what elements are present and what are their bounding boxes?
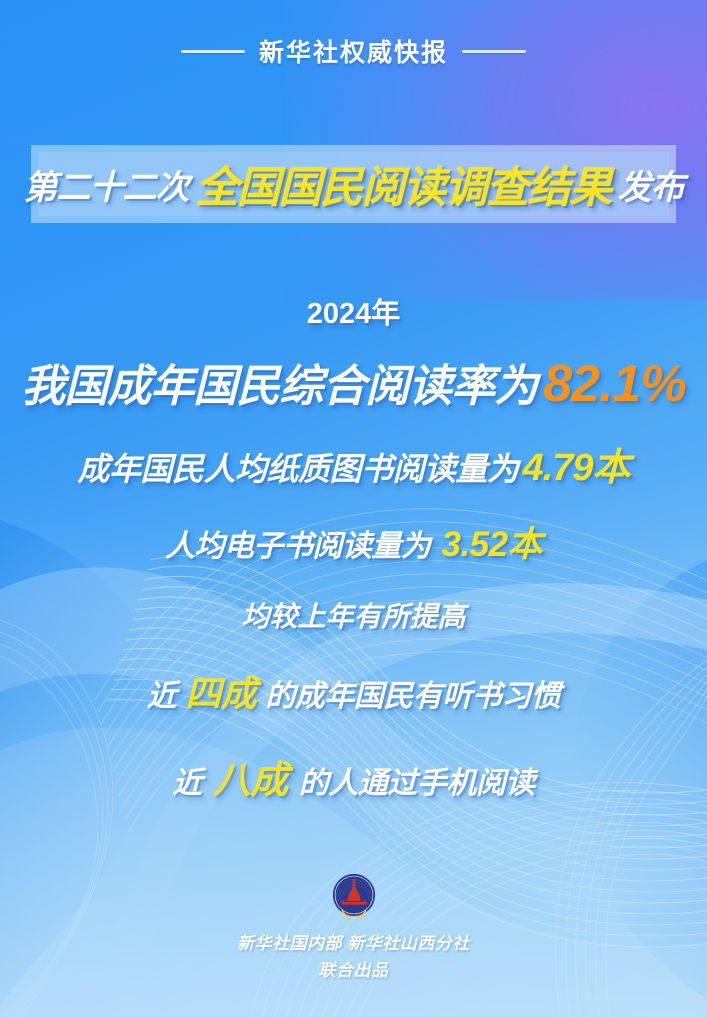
poster-canvas: 新华社权威快报 第二十二次 全国国民阅读调查结果 发布 2024年 我国成年国民… <box>0 0 707 1018</box>
footer-line-1: 新华社国内部 新华社山西分社 <box>0 931 707 957</box>
banner-suffix-text: 发布 <box>618 160 684 209</box>
ebooks-label: 人均电子书阅读量为 <box>165 521 431 565</box>
paper-books-label: 成年国民人均纸质图书阅读量为 <box>78 444 519 490</box>
footer-line-2: 联合出品 <box>0 958 707 984</box>
header-rule-left-icon <box>181 50 245 53</box>
reading-rate-value: 82.1% <box>543 354 685 414</box>
stat-line-year: 2024年 <box>0 290 707 332</box>
header-rule-right-icon <box>462 50 526 53</box>
improved-text: 均较上年有所提高 <box>241 595 465 635</box>
paper-books-value: 4.79本 <box>523 436 630 491</box>
stat-line-listening: 近 四成 的成年国民有听书习惯 <box>0 665 707 717</box>
header-bar: 新华社权威快报 <box>0 33 707 69</box>
footer-block: XINHUA 新华社国内部 新华社山西分社 联合出品 <box>0 873 707 984</box>
banner-prefix-text: 第二十二次 <box>24 160 189 209</box>
stat-line-paper-books: 成年国民人均纸质图书阅读量为 4.79本 <box>0 436 707 491</box>
reading-rate-label: 我国成年国民综合阅读率为 <box>21 350 537 414</box>
mobile-value: 八成 <box>213 749 288 804</box>
header-title: 新华社权威快报 <box>259 33 448 69</box>
banner-highlight-text: 全国国民阅读调查结果 <box>196 153 611 215</box>
stat-line-improved: 均较上年有所提高 <box>0 595 707 635</box>
stat-line-ebooks: 人均电子书阅读量为 3.52本 <box>0 516 707 567</box>
listening-suffix: 的成年国民有听书习惯 <box>265 671 560 715</box>
listening-prefix: 近 <box>147 671 177 715</box>
title-banner: 第二十二次 全国国民阅读调查结果 发布 <box>31 145 676 223</box>
content-block: 2024年 我国成年国民综合阅读率为 82.1% 成年国民人均纸质图书阅读量为 … <box>0 290 707 804</box>
svg-text:XINHUA: XINHUA <box>348 908 361 912</box>
mobile-suffix: 的人通过手机阅读 <box>299 758 535 802</box>
stat-line-reading-rate: 我国成年国民综合阅读率为 82.1% <box>0 350 707 414</box>
stat-line-mobile-reading: 近 八成 的人通过手机阅读 <box>0 749 707 804</box>
listening-value: 四成 <box>185 665 256 717</box>
title-banner-inner: 第二十二次 全国国民阅读调查结果 发布 <box>38 152 669 216</box>
year-text: 2024年 <box>307 290 401 332</box>
xinhua-agency-emblem-icon: XINHUA <box>332 873 376 917</box>
ebooks-value: 3.52本 <box>441 516 542 567</box>
mobile-prefix: 近 <box>172 758 202 802</box>
